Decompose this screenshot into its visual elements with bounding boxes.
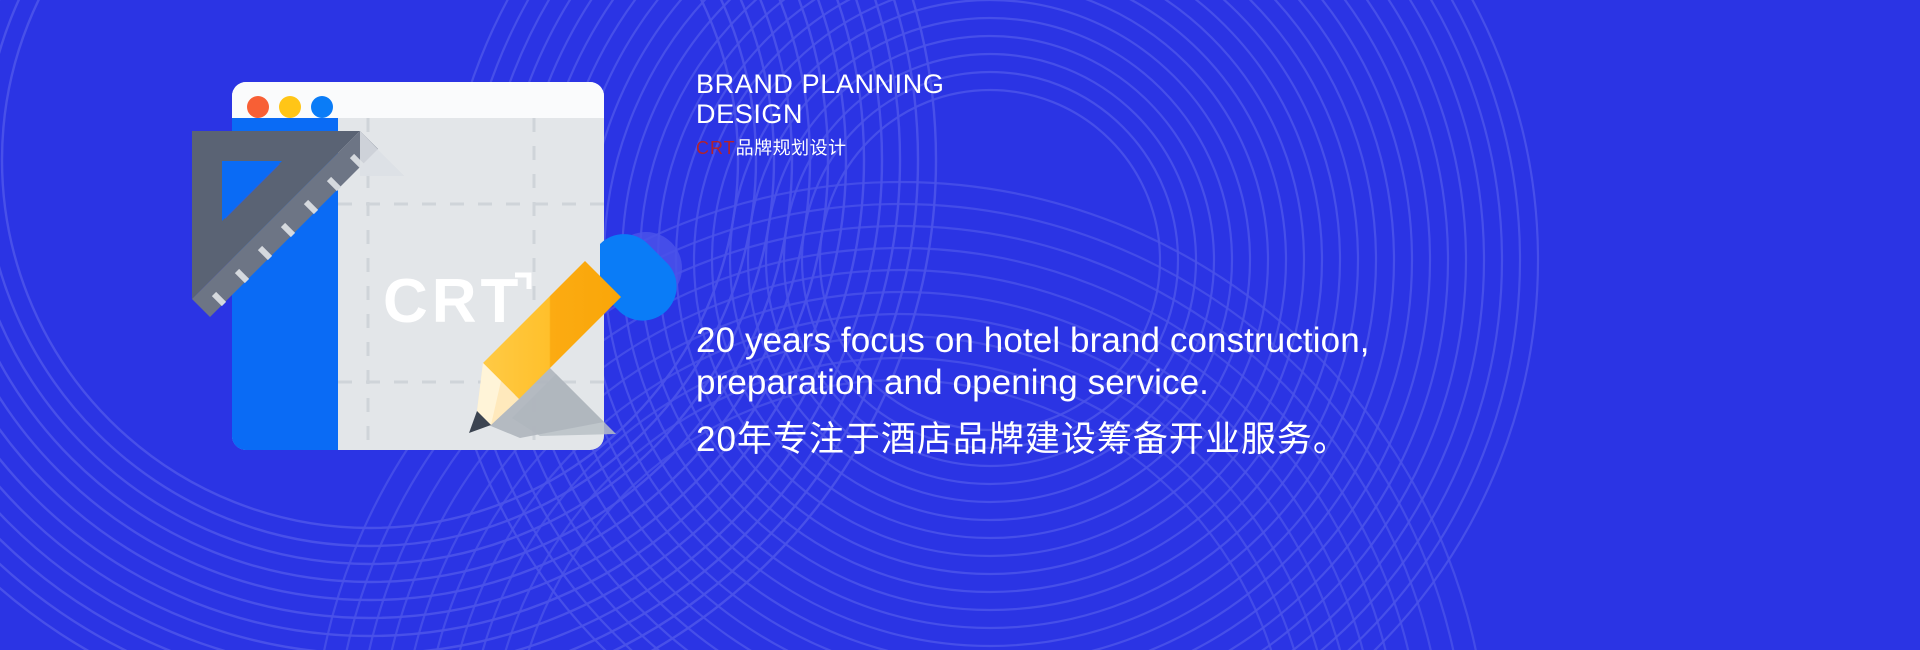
minimize-dot <box>279 96 301 118</box>
traffic-light-dots <box>247 96 333 118</box>
eyebrow-chinese-line: CRT品牌规划设计 <box>696 137 1316 159</box>
canvas-crt-logo: CRT <box>383 267 522 336</box>
brand-banner: CRT <box>0 0 1920 650</box>
maximize-dot <box>311 96 333 118</box>
headline-chinese: 20年专注于酒店品牌建设筹备开业服务。 <box>696 418 1716 462</box>
headline-english: 20 years focus on hotel brand constructi… <box>696 320 1716 404</box>
banner-copy: BRAND PLANNING DESIGN CRT品牌规划设计 20 years… <box>696 0 1796 650</box>
brand-prefix-crt: CRT <box>696 138 736 158</box>
eyebrow-block: BRAND PLANNING DESIGN CRT品牌规划设计 <box>696 69 1316 159</box>
close-dot <box>247 96 269 118</box>
eyebrow-chinese: 品牌规划设计 <box>736 138 847 158</box>
headline-block: 20 years focus on hotel brand constructi… <box>696 320 1716 462</box>
eyebrow-english: BRAND PLANNING DESIGN <box>696 69 1316 129</box>
